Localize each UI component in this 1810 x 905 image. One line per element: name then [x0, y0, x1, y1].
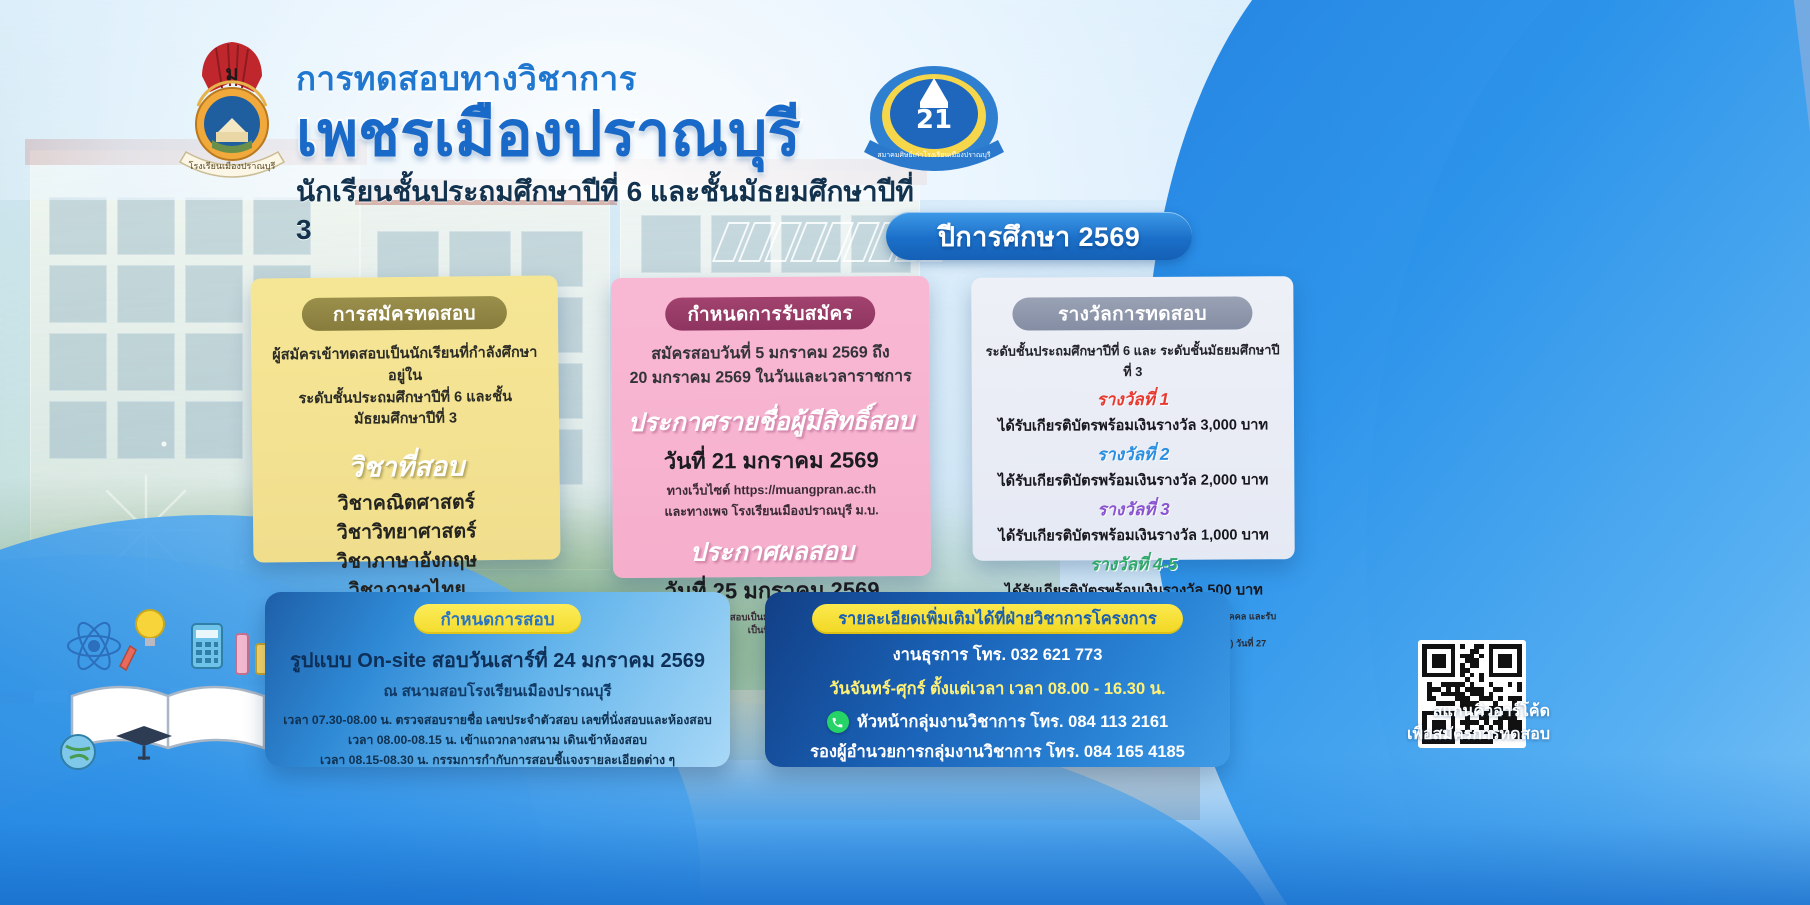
academic-year-label: ปีการศึกษา 2569 [938, 215, 1140, 258]
application-schedule-card-header: กำหนดการรับสมัคร [665, 296, 875, 330]
application-schedule-card: กำหนดการรับสมัคร สมัครสอบวันที่ 5 มกราคม… [611, 276, 931, 578]
contact-deputy-director: รองผู้อำนวยการกลุ่มงานวิชาการ โทร. 084 1… [765, 739, 1230, 765]
exam-timeline-item: เวลา 07.30-08.00 น. ตรวจสอบรายชื่อ เลขปร… [265, 711, 730, 731]
school-crest-logo: ม โรงเรียนเมืองปราณบุรี [172, 36, 292, 186]
exam-schedule-panel-header: กำหนดการสอบ [414, 604, 580, 634]
announce-channel-website: ทางเว็บไซต์ https://muangpran.ac.th [626, 480, 916, 500]
contact-panel-header: รายละเอียดเพิ่มเติมได้ที่ฝ่ายวิชาการโครง… [812, 604, 1183, 634]
registration-paragraph-line-1: ผู้สมัครเข้าทดสอบเป็นนักเรียนที่กำลังศึก… [267, 343, 542, 389]
prize-rank-1: รางวัลที่ 1 [984, 385, 1282, 414]
phone-icon [827, 711, 849, 733]
header-line-1: การทดสอบทางวิชาการ [296, 52, 936, 105]
exam-format-and-date: รูปแบบ On-site สอบวันเสาร์ที่ 24 มกราคม … [265, 644, 730, 676]
application-schedule-card-title: กำหนดการรับสมัคร [687, 298, 853, 329]
prize-detail-2: ได้รับเกียรติบัตรพร้อมเงินรางวัล 2,000 บ… [984, 468, 1282, 493]
contact-head-academic-row: หัวหน้ากลุ่มงานวิชาการ โทร. 084 113 2161 [765, 709, 1230, 735]
subject-item: วิชาคณิตศาสตร์ [269, 489, 544, 519]
academic-year-badge: ปีการศึกษา 2569 [886, 212, 1192, 260]
qr-caption: สแกนคิวอาร์โค้ด เพื่อสมัครการทดสอบ [1250, 700, 1550, 746]
registration-card: การสมัครทดสอบ ผู้สมัครเข้าทดสอบเป็นนักเร… [251, 275, 561, 562]
apply-period-line-2: 20 มกราคม 2569 ในวันและเวลาราชการ [626, 365, 916, 391]
registration-paragraph-line-2: ระดับชั้นประถมศึกษาปีที่ 6 และชั้นมัธยมศ… [268, 386, 543, 432]
prize-detail-1: ได้รับเกียรติบัตรพร้อมเงินรางวัล 3,000 บ… [984, 413, 1282, 438]
eligible-list-date: วันที่ 21 มกราคม 2569 [626, 442, 916, 479]
prizes-card-header: รางวัลการทดสอบ [1012, 296, 1252, 330]
qr-caption-line-1: สแกนคิวอาร์โค้ด [1250, 700, 1550, 723]
science-books-doodle [42, 600, 302, 780]
prizes-card: รางวัลการทดสอบ ระดับชั้นประถมศึกษาปีที่ … [971, 276, 1294, 561]
prizes-card-title: รางวัลการทดสอบ [1058, 298, 1207, 329]
header-text-block: การทดสอบทางวิชาการ เพชรเมืองปราณบุรี นัก… [296, 52, 936, 246]
apply-period-line-1: สมัครสอบวันที่ 5 มกราคม 2569 ถึง [625, 341, 915, 367]
exam-timeline-item: เวลา 08.00-08.15 น. เข้าแถวกลางสนาม เดิน… [265, 731, 730, 751]
prize-rank-4-5: รางวัลที่ 4-5 [985, 550, 1283, 579]
exam-timeline-item: เวลา 08.15-08.30 น. กรรมการกำกับการสอบชี… [265, 751, 730, 767]
prize-rank-3: รางวัลที่ 3 [984, 495, 1282, 524]
contact-head-academic: หัวหน้ากลุ่มงานวิชาการ โทร. 084 113 2161 [857, 709, 1168, 735]
contact-office-phone: งานธุรการ โทร. 032 621 773 [765, 642, 1230, 668]
subject-item: วิชาวิทยาศาสตร์ [269, 517, 544, 547]
header-subtitle: นักเรียนชั้นประถมศึกษาปีที่ 6 และชั้นมัธ… [296, 170, 936, 246]
exam-venue: ณ สนามสอบโรงเรียนเมืองปราณบุรี [265, 679, 730, 703]
header-title: เพชรเมืองปราณบุรี [296, 103, 936, 166]
contact-office-hours: วันจันทร์-ศุกร์ ตั้งแต่เวลา เวลา 08.00 -… [765, 676, 1230, 702]
poster-canvas: ม โรงเรียนเมืองปราณบุรี 21 สมาคมศิษย์เก่… [0, 0, 1810, 905]
exam-schedule-panel-title: กำหนดการสอบ [440, 606, 554, 633]
contact-panel-title: รายละเอียดเพิ่มเติมได้ที่ฝ่ายวิชาการโครง… [838, 606, 1157, 632]
announce-channel-page: และทางเพจ โรงเรียนเมืองปราณบุรี ม.บ. [627, 501, 917, 521]
prize-levels: ระดับชั้นประถมศึกษาปีที่ 6 และ ระดับชั้น… [984, 339, 1282, 383]
exam-schedule-panel: กำหนดการสอบ รูปแบบ On-site สอบวันเสาร์ที… [265, 592, 730, 767]
subjects-heading: วิชาที่สอบ [268, 444, 543, 490]
registration-card-title: การสมัครทดสอบ [333, 298, 476, 329]
qr-caption-line-2: เพื่อสมัครการทดสอบ [1250, 723, 1550, 746]
prize-rank-2: รางวัลที่ 2 [984, 440, 1282, 469]
contact-panel: รายละเอียดเพิ่มเติมได้ที่ฝ่ายวิชาการโครง… [765, 592, 1230, 767]
eligible-list-heading: ประกาศรายชื่อผู้มีสิทธิ์สอบ [626, 401, 916, 443]
result-heading: ประกาศผลสอบ [627, 531, 917, 573]
svg-text:โรงเรียนเมืองปราณบุรี: โรงเรียนเมืองปราณบุรี [189, 161, 276, 172]
subject-item: วิชาภาษาอังกฤษ [269, 546, 544, 576]
prize-detail-3: ได้รับเกียรติบัตรพร้อมเงินรางวัล 1,000 บ… [985, 523, 1283, 548]
registration-card-header: การสมัครทดสอบ [302, 296, 507, 331]
exam-timeline-list: เวลา 07.30-08.00 น. ตรวจสอบรายชื่อ เลขปร… [265, 711, 730, 767]
